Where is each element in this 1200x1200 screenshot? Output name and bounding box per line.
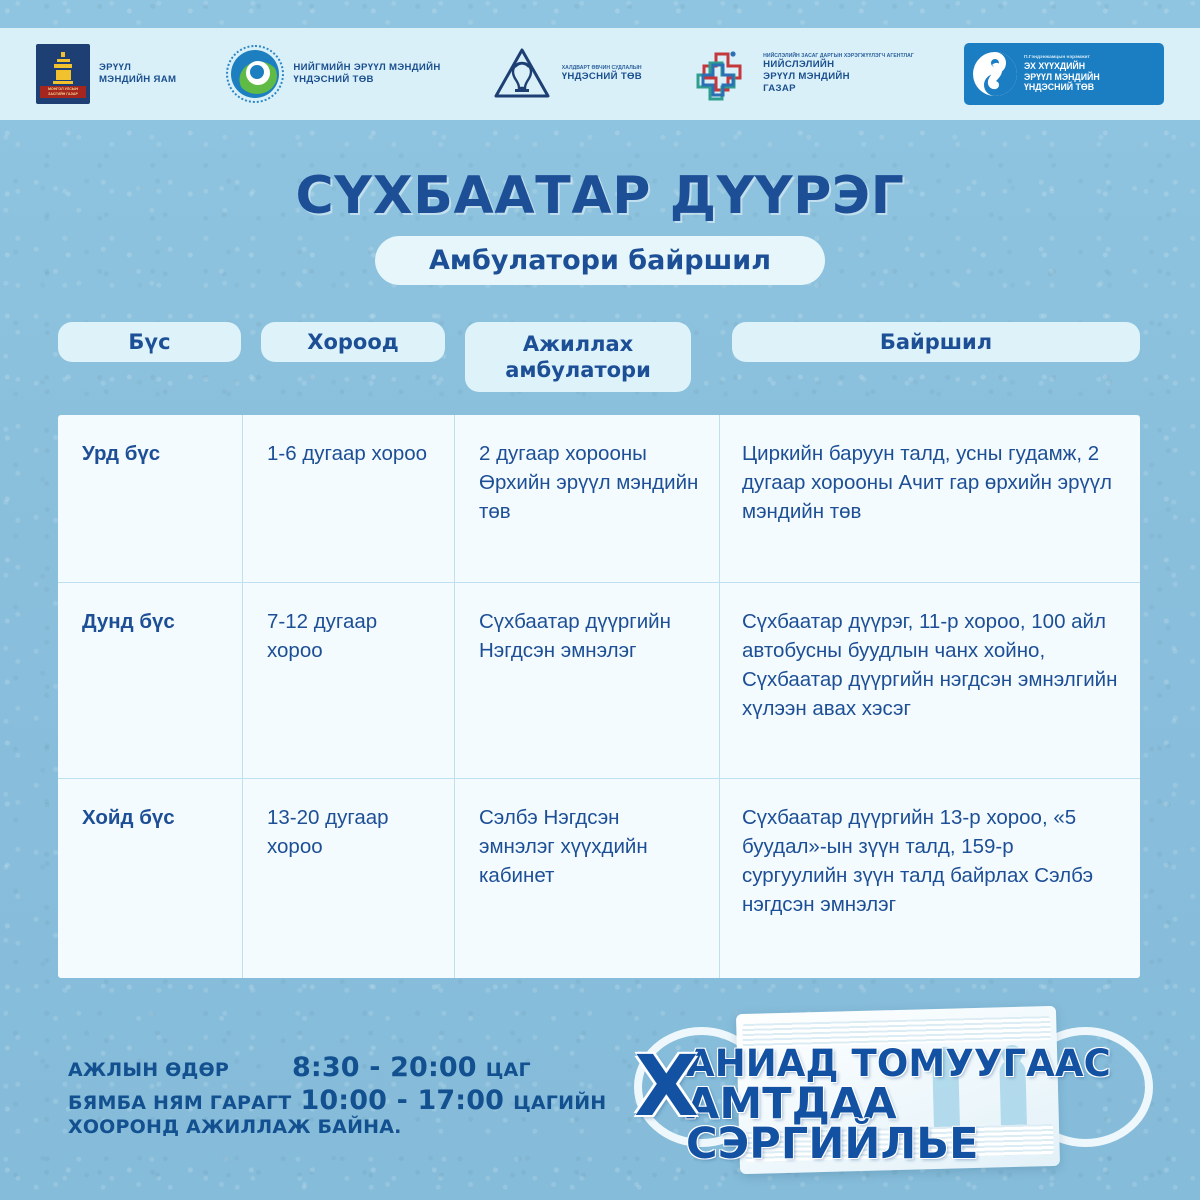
logo-cchd-text: НИЙСЛЭЛИЙН ЗАСАГ ДАРГЫН ХЭРЭГЖҮҮЛЭГЧ АГЕ… xyxy=(763,53,914,95)
opening-hours-note: ХООРОНД АЖИЛЛАЖ БАЙНА. xyxy=(68,1116,606,1138)
table-column-headers: Бүс Хороод Ажиллахамбулатори Байршил xyxy=(58,322,1140,404)
column-header-location: Байршил xyxy=(732,322,1140,362)
logo-line-1: НИЙСЛЭЛИЙН xyxy=(763,59,914,71)
logo-ncph-text: НИЙГМИЙН ЭРҮҮЛ МЭНДИЙН ҮНДЭСНИЙ ТӨВ xyxy=(293,62,440,86)
logo-mch-text: П.Гэндэнжамцын нэрэмжит ЭХ ХҮҮХДИЙН ЭРҮҮ… xyxy=(1024,55,1100,94)
table-row: 1-6 дугаар хороо xyxy=(243,415,455,583)
page-subtitle: Амбулатори байршил xyxy=(375,236,825,285)
logo-line-2: ЭРҮҮЛ МЭНДИЙН xyxy=(763,71,914,83)
table-row: 7-12 дугаар хороо xyxy=(243,583,455,779)
opening-hours: АЖЛЫН ӨДӨР 8:30 - 20:00 ЦАГ БЯМБА НЯМ ГА… xyxy=(68,1052,606,1138)
ambulatory-locations-table: Урд бүс 1-6 дугаар хороо 2 дугаар хороон… xyxy=(58,415,1140,978)
bowl-of-hygieia-triangle-icon xyxy=(491,45,553,103)
table-row: 2 дугаар хорооны Өрхийн эрүүл мэндийн тө… xyxy=(455,415,720,583)
logo-line-2: ЭРҮҮЛ МЭНДИЙН xyxy=(1024,72,1100,83)
opening-hours-weekend: БЯМБА НЯМ ГАРАГТ 10:00 - 17:00 ЦАГИЙН xyxy=(68,1085,606,1116)
column-header-clinic: Ажиллахамбулатори xyxy=(465,322,691,392)
table-row: Сүхбаатар дүүргийн 13-р хороо, «5 буудал… xyxy=(720,779,1140,978)
weekday-suffix: ЦАГ xyxy=(486,1059,531,1081)
yin-yang-mother-child-icon xyxy=(972,51,1018,97)
logo-line-3: ҮНДЭСНИЙ ТӨВ xyxy=(1024,82,1100,93)
slogan-line-1: АНИАД ТОМУУГААС xyxy=(628,1047,1198,1082)
logo-national-center-communicable-diseases: ХАЛДВАРТ ӨВЧИН СУДЛАЛЫН ҮНДЭСНИЙ ТӨВ xyxy=(491,45,642,103)
column-header-clinic-line-1: Ажиллахамбулатори xyxy=(505,331,651,384)
logo-nccd-text: ХАЛДВАРТ ӨВЧИН СУДЛАЛЫН ҮНДЭСНИЙ ТӨВ xyxy=(562,65,642,83)
slogan-text: Х АНИАД ТОМУУГААС АМТДАА СЭРГИЙЛЬЕ xyxy=(628,1047,1198,1165)
table-row: Дунд бүс xyxy=(58,583,243,779)
weekend-suffix: ЦАГИЙН xyxy=(513,1092,606,1114)
column-header-zone: Бүс xyxy=(58,322,241,362)
logo-line-2: МЭНДИЙН ЯАМ xyxy=(99,74,176,86)
logo-ministry-of-health: МОНГОЛ УЛСЫНЗАСГИЙН ГАЗАР ЭРҮҮЛ МЭНДИЙН … xyxy=(36,44,176,104)
table-row: Урд бүс xyxy=(58,415,243,583)
slogan-initial: Х xyxy=(634,1051,699,1122)
public-health-swirl-icon xyxy=(226,45,284,103)
page-title: СҮХБААТАР ДҮҮРЭГ xyxy=(0,166,1200,226)
table-row: Сэлбэ Нэгдсэн эмнэлэг хүүхдийн кабинет xyxy=(455,779,720,978)
logo-line-1: ЭРҮҮЛ xyxy=(99,62,176,74)
slogan-banner: Х АНИАД ТОМУУГААС АМТДАА СЭРГИЙЛЬЕ xyxy=(620,985,1200,1200)
weekday-label: АЖЛЫН ӨДӨР xyxy=(68,1059,283,1081)
emblem-badge-label: МОНГОЛ УЛСЫНЗАСГИЙН ГАЗАР xyxy=(40,86,86,98)
weekday-time: 8:30 - 20:00 xyxy=(292,1052,477,1083)
logo-main-line: ҮНДЭСНИЙ ТӨВ xyxy=(562,71,642,83)
weekend-time: 10:00 - 17:00 xyxy=(300,1085,504,1116)
logo-national-center-maternal-child-health: П.Гэндэнжамцын нэрэмжит ЭХ ХҮҮХДИЙН ЭРҮҮ… xyxy=(964,43,1164,105)
table-row: 13-20 дугаар хороо xyxy=(243,779,455,978)
logo-line-1: ЭХ ХҮҮХДИЙН xyxy=(1024,61,1100,72)
logo-line-2: ҮНДЭСНИЙ ТӨВ xyxy=(293,74,440,86)
logo-national-center-public-health: НИЙГМИЙН ЭРҮҮЛ МЭНДИЙН ҮНДЭСНИЙ ТӨВ xyxy=(226,45,440,103)
mongolia-state-emblem-icon: МОНГОЛ УЛСЫНЗАСГИЙН ГАЗАР xyxy=(36,44,90,104)
table-row: Сүхбаатар дүүргийн Нэгдсэн эмнэлэг xyxy=(455,583,720,779)
medical-cross-icon xyxy=(692,45,754,103)
logo-tiny-line: П.Гэндэнжамцын нэрэмжит xyxy=(1024,55,1100,61)
table-row: Хойд бүс xyxy=(58,779,243,978)
soyombo-icon xyxy=(52,50,74,84)
logo-band: МОНГОЛ УЛСЫНЗАСГИЙН ГАЗАР ЭРҮҮЛ МЭНДИЙН … xyxy=(0,28,1200,120)
logo-capital-city-health-department: НИЙСЛЭЛИЙН ЗАСАГ ДАРГЫН ХЭРЭГЖҮҮЛЭГЧ АГЕ… xyxy=(692,45,914,103)
logo-line-3: ГАЗАР xyxy=(763,83,914,95)
opening-hours-weekday: АЖЛЫН ӨДӨР 8:30 - 20:00 ЦАГ xyxy=(68,1052,606,1083)
logo-ministry-of-health-text: ЭРҮҮЛ МЭНДИЙН ЯАМ xyxy=(99,62,176,86)
column-header-khoroo: Хороод xyxy=(261,322,445,362)
logo-line-1: НИЙГМИЙН ЭРҮҮЛ МЭНДИЙН xyxy=(293,62,440,74)
weekend-label: БЯМБА НЯМ ГАРАГТ xyxy=(68,1092,291,1114)
slogan-line-2: АМТДАА СЭРГИЙЛЬЕ xyxy=(628,1084,1198,1165)
table-row: Циркийн баруун талд, усны гудамж, 2 дуга… xyxy=(720,415,1140,583)
table-row: Сүхбаатар дүүрэг, 11-р хороо, 100 айл ав… xyxy=(720,583,1140,779)
